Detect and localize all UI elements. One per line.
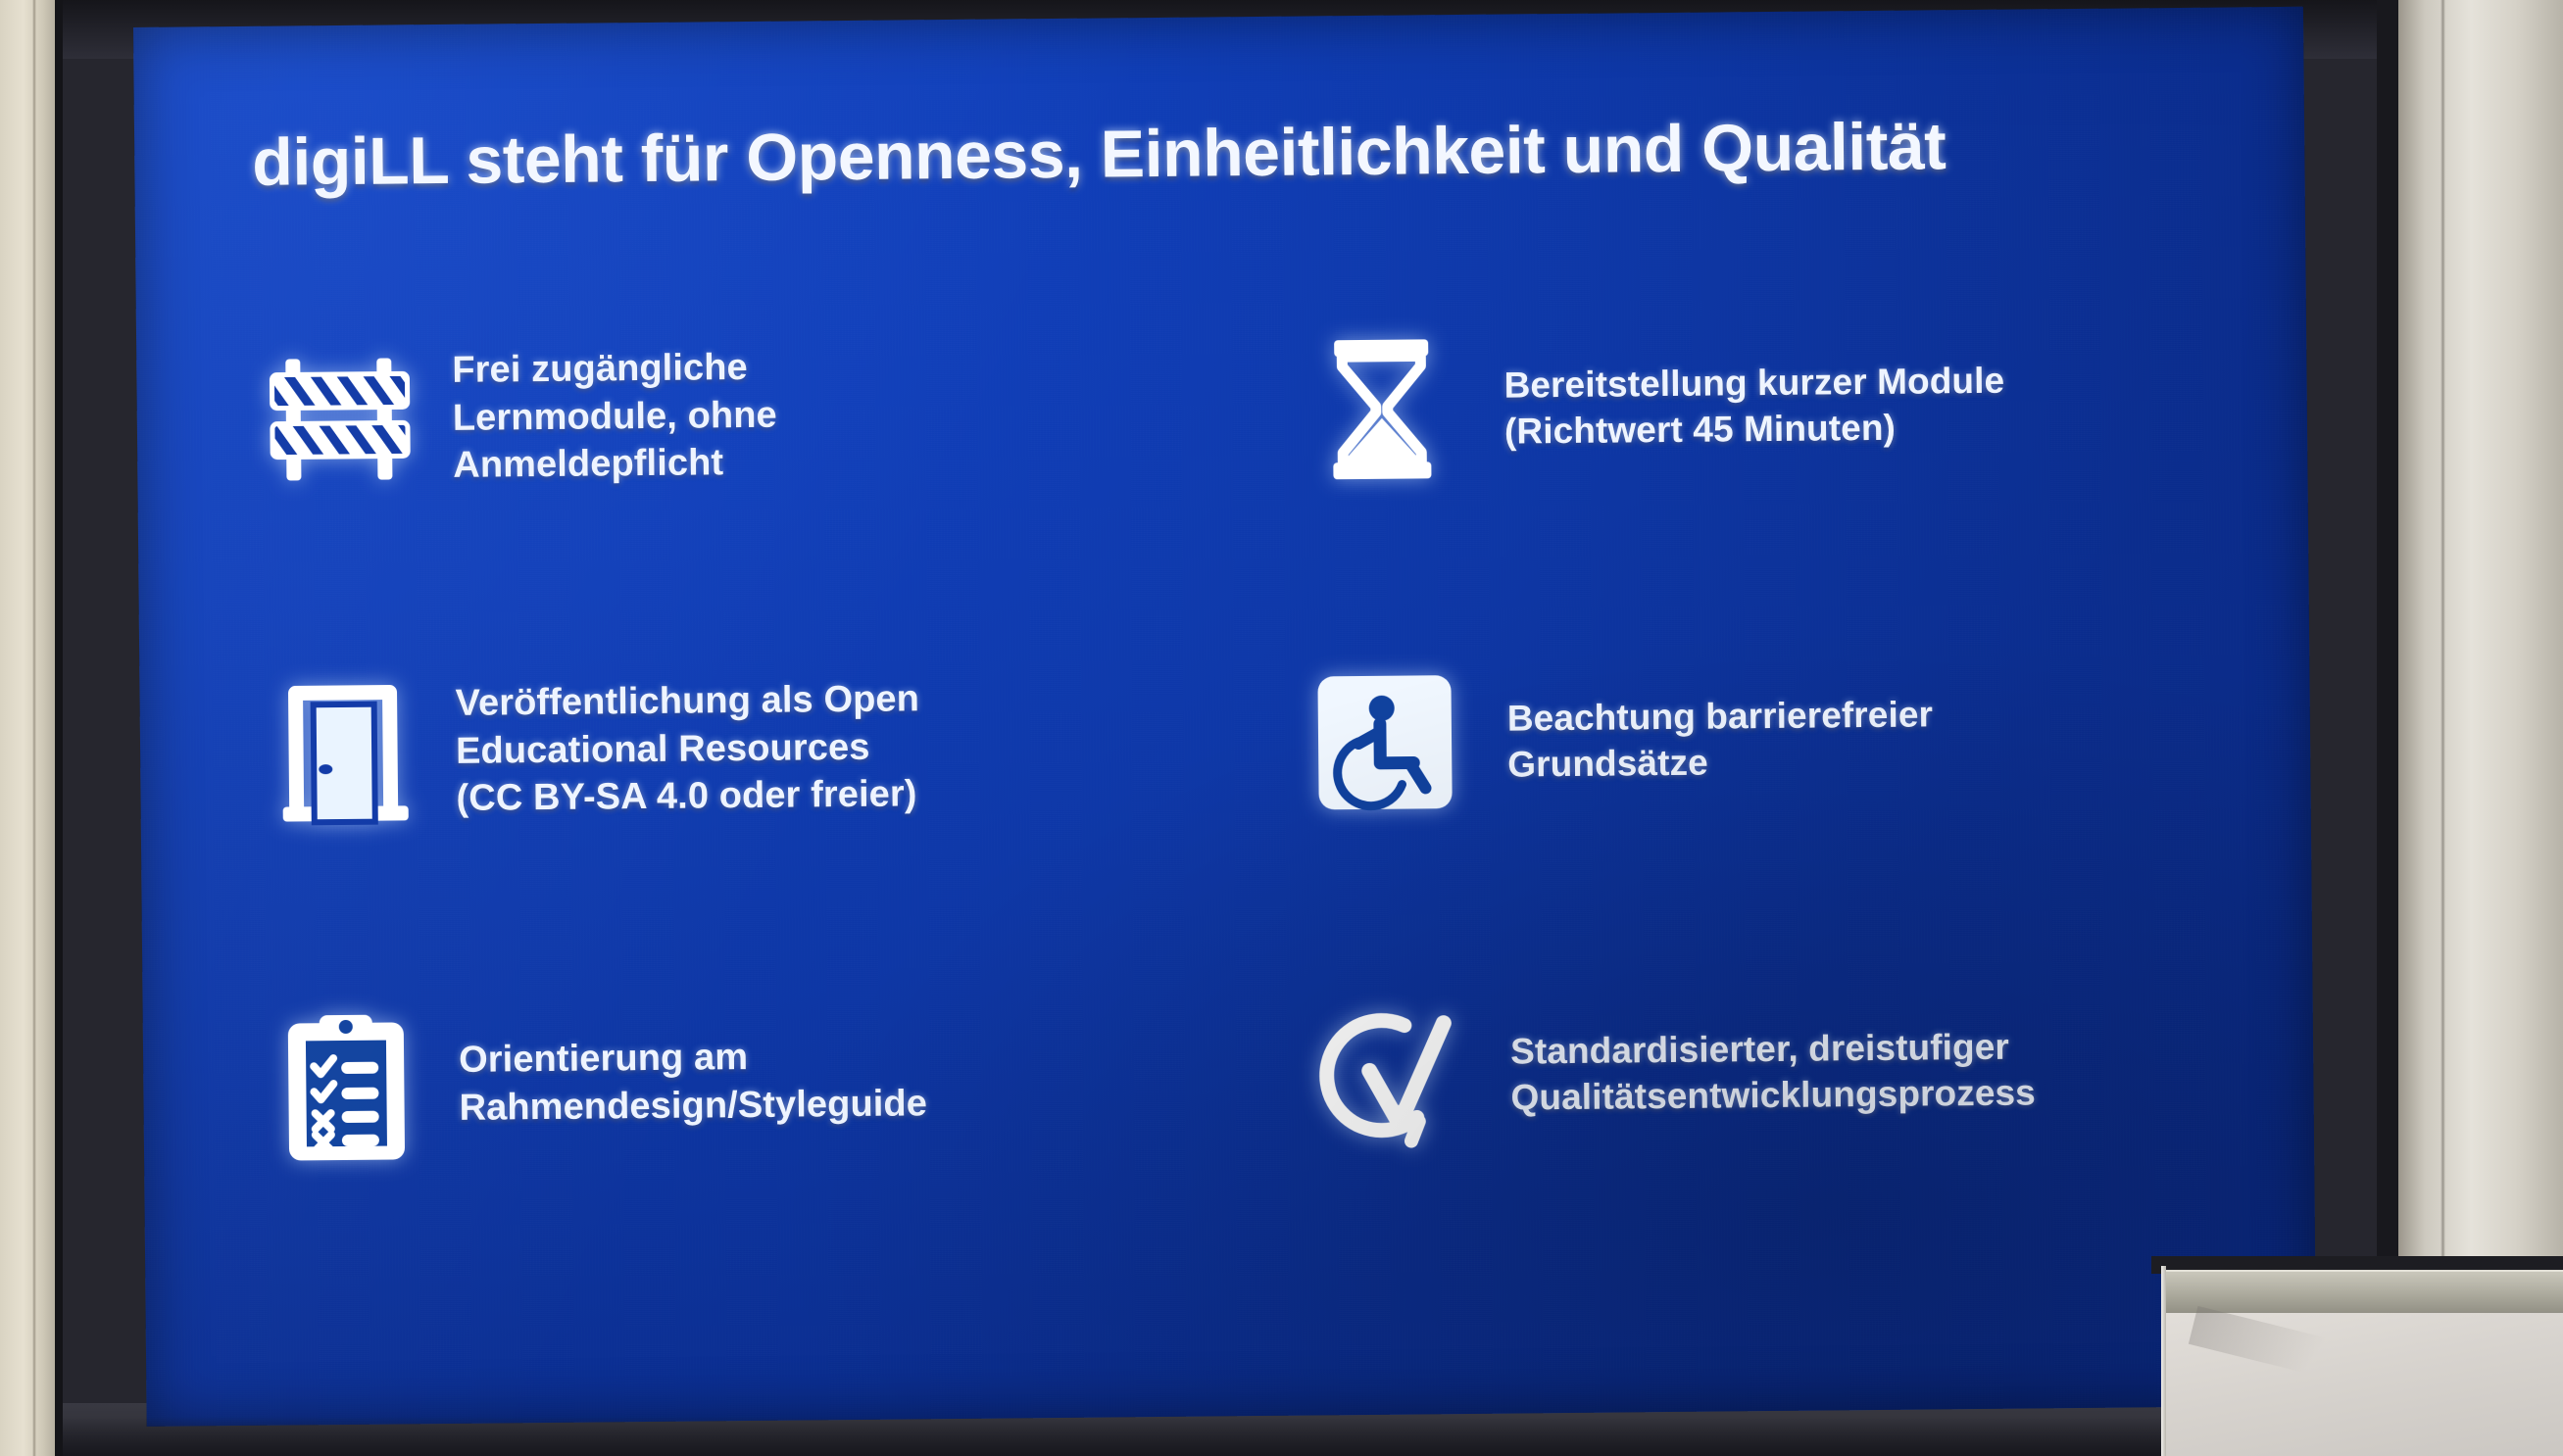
feature-text: Veröffentlichung als Open Educational Re… [455, 675, 932, 823]
feature-text-line: Anmeldepflicht [453, 439, 777, 490]
screen-base-shadow [63, 1417, 2385, 1456]
feature-text-line: Veröffentlichung als Open [455, 675, 919, 727]
feature-text-line: Qualitätsentwicklungsprozess [1510, 1069, 2036, 1120]
feature-item-accessibility: Beachtung barrierefreier Grundsätze [1260, 567, 2250, 910]
road-barrier-icon [226, 325, 454, 513]
feature-item-short-modules: Bereitstellung kurzer Module (Richtwert … [1257, 234, 2247, 577]
cycle-checkmark-icon [1264, 982, 1511, 1170]
feature-item-oer-license: Veröffentlichung als Open Educational Re… [228, 577, 1218, 920]
feature-text: Orientierung am Rahmendesign/Styleguide [459, 1033, 939, 1133]
feature-text-line: Standardisierter, dreistufiger [1510, 1023, 2036, 1074]
right-wall-seam [2440, 0, 2445, 1456]
feature-item-quality-process: Standardisierter, dreistufiger Qualitäts… [1264, 900, 2254, 1243]
right-wall [2398, 0, 2563, 1456]
clipboard-checklist-icon [232, 992, 460, 1180]
feature-text: Standardisierter, dreistufiger Qualitäts… [1510, 1023, 2047, 1121]
feature-item-open-access: Frei zugängliche Lernmodule, ohne Anmeld… [225, 244, 1215, 587]
feature-text-line: (CC BY-SA 4.0 oder freier) [456, 771, 920, 823]
flipchart-board [2151, 1256, 2563, 1456]
feature-text-line: Frei zugängliche [452, 344, 776, 395]
flipchart-left-edge [2161, 1266, 2166, 1456]
feature-text: Beachtung barrierefreier Grundsätze [1507, 691, 1946, 788]
feature-text: Bereitstellung kurzer Module (Richtwert … [1503, 357, 2017, 455]
open-door-icon [229, 658, 457, 847]
flipchart-rail [2165, 1270, 2563, 1317]
left-wall-seam [32, 0, 36, 1456]
presentation-slide: digiLL steht für Openness, Einheitlichke… [133, 7, 2317, 1427]
feature-text-line: Lernmodule, ohne [453, 391, 777, 442]
right-dark-gap [2377, 0, 2398, 1456]
page-title: digiLL steht für Openness, Einheitlichke… [252, 108, 2193, 200]
feature-text: Frei zugängliche Lernmodule, ohne Anmeld… [452, 344, 789, 490]
left-wall [0, 0, 55, 1456]
feature-text-line: Grundsätze [1507, 737, 1934, 788]
feature-text-line: Educational Resources [456, 723, 920, 775]
room-photo: digiLL steht für Openness, Einheitlichke… [0, 0, 2563, 1456]
wheelchair-accessibility-icon [1261, 649, 1508, 837]
feature-text-line: Rahmendesign/Styleguide [459, 1080, 927, 1132]
feature-text-line: Beachtung barrierefreier [1507, 691, 1934, 742]
feature-text-line: Orientierung am [459, 1033, 927, 1085]
hourglass-icon [1258, 315, 1505, 504]
feature-text-line: Bereitstellung kurzer Module [1503, 357, 2004, 408]
feature-text-line: (Richtwert 45 Minuten) [1504, 404, 2005, 455]
feature-item-styleguide: Orientierung am Rahmendesign/Styleguide [232, 910, 1222, 1253]
feature-grid: Frei zugängliche Lernmodule, ohne Anmeld… [225, 234, 2254, 1253]
